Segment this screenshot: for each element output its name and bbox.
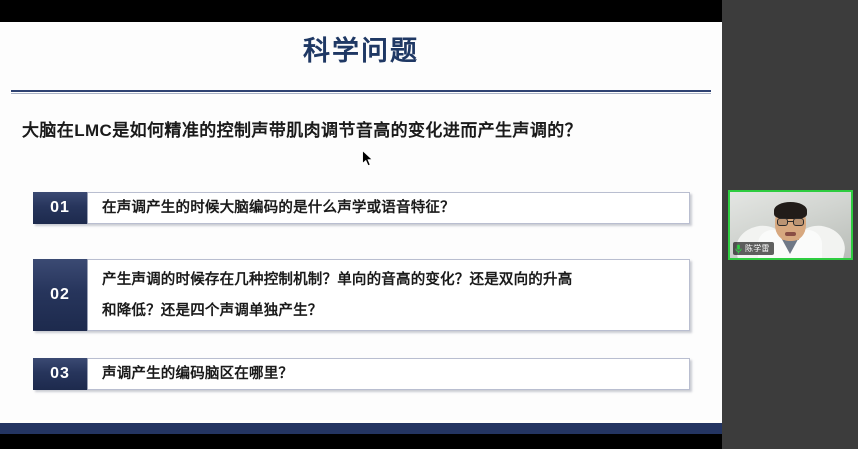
question-item-text-line-1: 产生声调的时候存在几种控制机制？单向的音高的变化？还是双向的升高 — [102, 265, 679, 296]
question-item-number: 02 — [33, 259, 88, 331]
participants-sidebar[interactable]: 陈学雷 — [722, 0, 858, 449]
avatar — [785, 232, 796, 236]
glasses-icon — [777, 218, 804, 226]
question-item-text: 产生声调的时候存在几种控制机制？单向的音高的变化？还是双向的升高 和降低？还是四… — [88, 260, 689, 330]
meeting-window: 科学问题 大脑在LMC是如何精准的控制声带肌肉调节音高的变化进而产生声调的？ 0… — [0, 0, 858, 449]
shared-screen-region[interactable]: 科学问题 大脑在LMC是如何精准的控制声带肌肉调节音高的变化进而产生声调的？ 0… — [0, 0, 722, 449]
question-item-01[interactable]: 01 在声调产生的时候大脑编码的是什么声学或语音特征？ — [33, 192, 690, 224]
participant-name-badge: 陈学雷 — [733, 242, 774, 255]
microphone-icon — [735, 244, 742, 254]
question-item-text: 在声调产生的时候大脑编码的是什么声学或语音特征？ — [88, 193, 689, 223]
question-item-03[interactable]: 03 声调产生的编码脑区在哪里？ — [33, 358, 690, 390]
page-title: 科学问题 — [0, 34, 722, 68]
question-item-02[interactable]: 02 产生声调的时候存在几种控制机制？单向的音高的变化？还是双向的升高 和降低？… — [33, 259, 690, 331]
question-item-text: 声调产生的编码脑区在哪里？ — [88, 359, 689, 389]
avatar — [774, 202, 807, 219]
question-item-number: 03 — [33, 358, 88, 390]
question-item-number: 01 — [33, 192, 88, 224]
title-divider — [11, 90, 711, 92]
question-item-text-line-2: 和降低？还是四个声调单独产生？ — [102, 296, 679, 327]
presentation-slide[interactable]: 科学问题 大脑在LMC是如何精准的控制声带肌肉调节音高的变化进而产生声调的？ 0… — [0, 22, 722, 434]
main-question-text: 大脑在LMC是如何精准的控制声带肌肉调节音高的变化进而产生声调的？ — [22, 118, 712, 144]
title-divider-secondary — [11, 93, 711, 94]
video-tile-active-speaker[interactable]: 陈学雷 — [728, 190, 853, 260]
slide-footer-bar — [0, 423, 722, 434]
participant-name: 陈学雷 — [745, 242, 770, 255]
